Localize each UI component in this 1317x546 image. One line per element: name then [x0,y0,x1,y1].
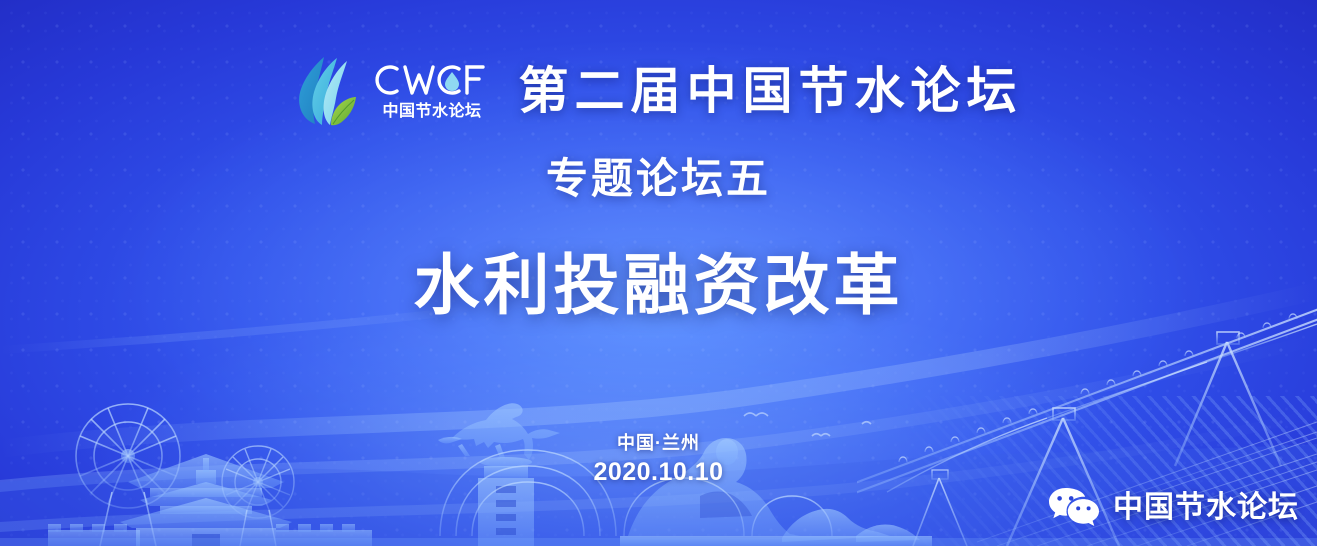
headline-title: 水利投融资改革 [0,252,1317,318]
poster-content: 中国节水论坛 第二届中国节水论坛 专题论坛五 水利投融资改革 中国·兰州 202… [0,0,1317,546]
wechat-badge: 中国节水论坛 [1047,486,1299,530]
venue-date: 2020.10.10 [0,457,1317,487]
venue-place: 中国·兰州 [0,432,1317,455]
cwcf-wordmark-icon: 中国节水论坛 [373,56,491,126]
venue-block: 中国·兰州 2020.10.10 [0,432,1317,487]
svg-text:中国节水论坛: 中国节水论坛 [382,101,481,120]
wechat-icon [1047,486,1101,530]
wechat-label: 中国节水论坛 [1113,493,1299,523]
sub-forum-title: 专题论坛五 [0,158,1317,200]
water-drop-leaf-logo-icon [295,55,357,127]
brand-lockup: 中国节水论坛 第二届中国节水论坛 [0,55,1317,127]
poster-canvas: 中国节水论坛 第二届中国节水论坛 专题论坛五 水利投融资改革 中国·兰州 202… [0,0,1317,546]
forum-title: 第二届中国节水论坛 [513,66,1023,116]
